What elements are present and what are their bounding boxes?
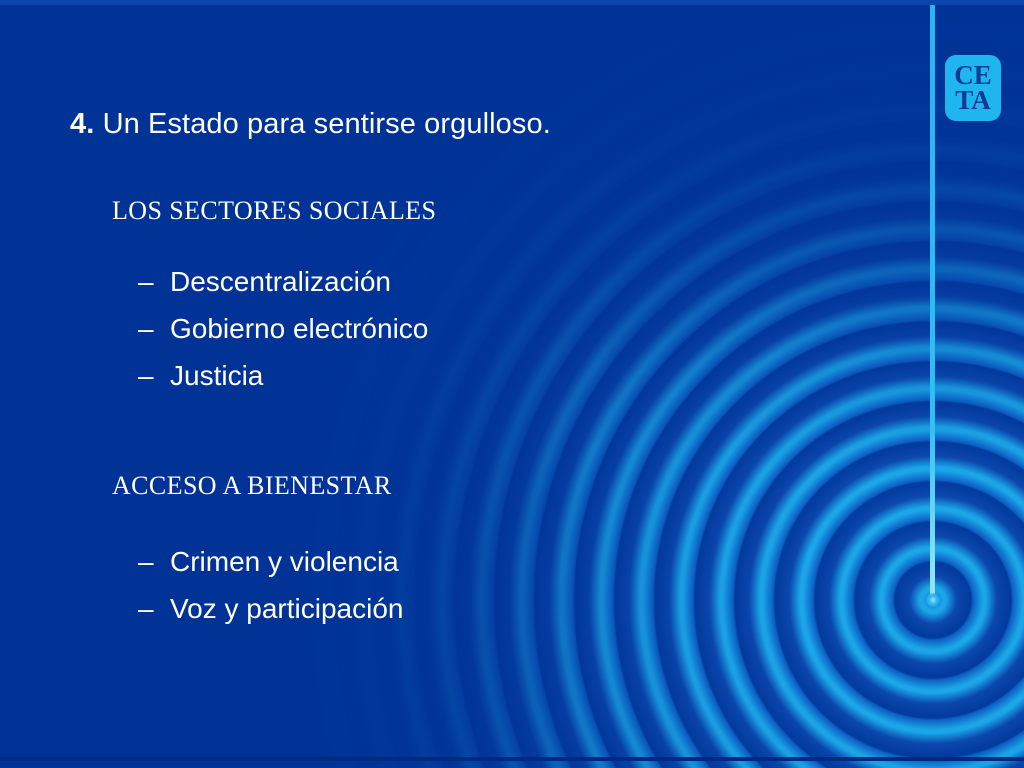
ceta-logo: CE TA — [945, 55, 1001, 121]
bullet-dash-icon: – — [138, 546, 170, 578]
list-item: – Voz y participación — [138, 593, 403, 640]
bullet-dash-icon: – — [138, 266, 170, 298]
list-item-label: Voz y participación — [170, 593, 403, 625]
bullet-list: – Descentralización – Gobierno electróni… — [138, 266, 428, 407]
bullet-list: – Crimen y violencia – Voz y participaci… — [138, 546, 403, 640]
bullet-dash-icon: – — [138, 313, 170, 345]
list-item: – Descentralización — [138, 266, 428, 313]
list-item: – Crimen y violencia — [138, 546, 403, 593]
group-heading: ACCESO A BIENESTAR — [112, 471, 392, 501]
bullet-dash-icon: – — [138, 593, 170, 625]
slide-title-text: Un Estado para sentirse orgulloso. — [103, 108, 551, 140]
list-item-label: Gobierno electrónico — [170, 313, 428, 345]
list-item-label: Justicia — [170, 360, 263, 392]
slide-title-number: 4. — [70, 108, 94, 140]
slide-title: 4. Un Estado para sentirse orgulloso. — [70, 108, 551, 141]
list-item-label: Descentralización — [170, 266, 391, 298]
presentation-slide: 4. Un Estado para sentirse orgulloso. LO… — [0, 0, 1024, 768]
group-heading: LOS SECTORES SOCIALES — [112, 196, 436, 226]
slide-content: 4. Un Estado para sentirse orgulloso. LO… — [0, 0, 1024, 768]
bullet-dash-icon: – — [138, 360, 170, 392]
logo-text-line-2: TA — [955, 88, 991, 113]
list-item: – Justicia — [138, 360, 428, 407]
list-item: – Gobierno electrónico — [138, 313, 428, 360]
list-item-label: Crimen y violencia — [170, 546, 399, 578]
